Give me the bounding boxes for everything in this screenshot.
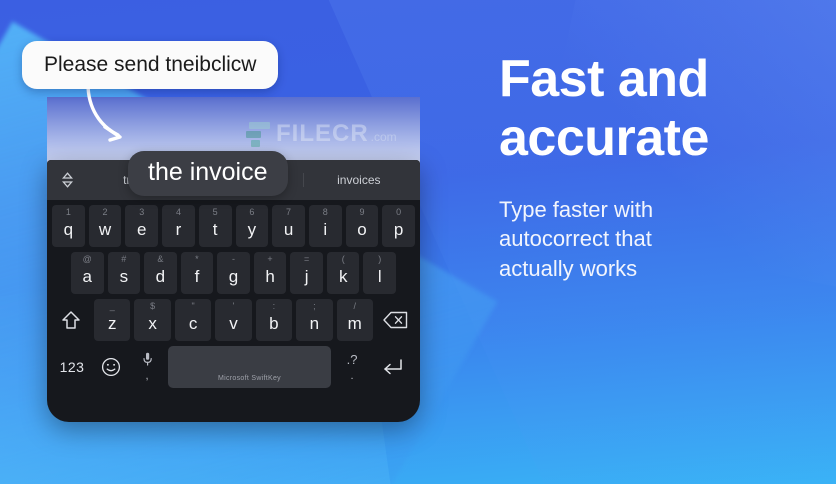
key-primary-label: a [83, 268, 92, 285]
suggestion-item-3[interactable]: invoices [303, 173, 414, 187]
key-secondary-label: @ [71, 254, 104, 264]
key-secondary-label: * [181, 254, 214, 264]
emoji-smiley-icon[interactable] [92, 347, 130, 387]
key-secondary-label: 9 [346, 207, 379, 217]
key-secondary-label: 1 [52, 207, 85, 217]
key-f[interactable]: *f [181, 252, 214, 294]
key-primary-label: i [323, 221, 327, 238]
shift-arrow-icon[interactable] [52, 299, 90, 341]
enter-return-icon[interactable] [369, 347, 415, 387]
spacebar-key[interactable]: Microsoft SwiftKey [168, 346, 331, 388]
subcopy-line-2: autocorrect that [499, 226, 652, 251]
key-secondary-label: ) [363, 254, 396, 264]
microphone-icon [143, 352, 152, 368]
key-primary-label: c [189, 315, 198, 332]
keyboard-row-bottom: 123 [50, 346, 417, 388]
key-p[interactable]: 0p [382, 205, 415, 247]
key-secondary-label: - [217, 254, 250, 264]
key-primary-label: y [248, 221, 257, 238]
key-secondary-label: = [290, 254, 323, 264]
key-primary-label: l [378, 268, 382, 285]
key-secondary-label: 3 [125, 207, 158, 217]
key-s[interactable]: #s [108, 252, 141, 294]
key-primary-label: h [265, 268, 274, 285]
spacebar-label: Microsoft SwiftKey [218, 375, 281, 382]
key-secondary-label: 0 [382, 207, 415, 217]
key-e[interactable]: 3e [125, 205, 158, 247]
key-d[interactable]: &d [144, 252, 177, 294]
key-primary-label: s [120, 268, 129, 285]
key-secondary-label: 8 [309, 207, 342, 217]
key-y[interactable]: 6y [236, 205, 269, 247]
subcopy-line-1: Type faster with [499, 197, 653, 222]
headline-line-2: accurate [499, 109, 709, 167]
key-primary-label: d [156, 268, 165, 285]
key-area: 1q 2w 3e 4r 5t 6y 7u 8i 9o 0p @a #s &d *… [47, 200, 420, 392]
key-primary-label: f [195, 268, 200, 285]
key-i[interactable]: 8i [309, 205, 342, 247]
chevron-up-down-icon[interactable] [53, 172, 81, 188]
key-primary-label: u [284, 221, 293, 238]
key-l[interactable]: )l [363, 252, 396, 294]
key-t[interactable]: 5t [199, 205, 232, 247]
microphone-key[interactable]: , [130, 347, 164, 387]
autocorrect-word-tooltip: the invoice [128, 151, 288, 196]
key-primary-label: p [394, 221, 403, 238]
key-primary-label: e [137, 221, 146, 238]
key-primary-label: o [357, 221, 366, 238]
key-secondary-label: 7 [272, 207, 305, 217]
key-r[interactable]: 4r [162, 205, 195, 247]
key-primary-label: v [229, 315, 238, 332]
key-a[interactable]: @a [71, 252, 104, 294]
key-primary-label: w [99, 221, 111, 238]
promo-subtitle: Type faster with autocorrect that actual… [499, 195, 819, 284]
promo-copy: Fast and accurate Type faster with autoc… [499, 50, 819, 284]
key-primary-label: g [229, 268, 238, 285]
key-secondary-label: " [175, 301, 211, 311]
key-q[interactable]: 1q [52, 205, 85, 247]
numbers-key[interactable]: 123 [52, 347, 92, 387]
key-secondary-label: 5 [199, 207, 232, 217]
keyboard-row-1: 1q 2w 3e 4r 5t 6y 7u 8i 9o 0p [50, 205, 417, 247]
keyboard-row-3: _z $x "c 'v :b ;n /m [50, 299, 417, 341]
key-primary-label: m [348, 315, 362, 332]
key-secondary-label: & [144, 254, 177, 264]
key-primary-label: z [108, 315, 117, 332]
typed-text-callout: Please send tneibclicw [22, 41, 278, 89]
key-g[interactable]: -g [217, 252, 250, 294]
key-secondary-label: 6 [236, 207, 269, 217]
key-secondary-label: $ [134, 301, 170, 311]
key-primary-label: x [148, 315, 157, 332]
key-h[interactable]: +h [254, 252, 287, 294]
key-primary-label: q [64, 221, 73, 238]
key-primary-label: r [176, 221, 182, 238]
key-secondary-label: ( [327, 254, 360, 264]
key-secondary-label: ' [215, 301, 251, 311]
key-secondary-label: + [254, 254, 287, 264]
key-primary-label: j [305, 268, 309, 285]
key-w[interactable]: 2w [89, 205, 122, 247]
key-primary-label: k [339, 268, 348, 285]
key-secondary-label: _ [94, 301, 130, 311]
key-secondary-label: : [256, 301, 292, 311]
swiftkey-keyboard: tneib the invoice invoices 1q 2w 3e 4r 5… [47, 160, 420, 422]
key-u[interactable]: 7u [272, 205, 305, 247]
key-v[interactable]: 'v [215, 299, 251, 341]
key-primary-label: t [213, 221, 218, 238]
key-primary-label: b [269, 315, 278, 332]
key-secondary-label: / [337, 301, 373, 311]
key-c[interactable]: "c [175, 299, 211, 341]
comma-key-label: , [145, 371, 148, 382]
backspace-delete-icon[interactable] [377, 299, 415, 341]
key-k[interactable]: (k [327, 252, 360, 294]
page-title: Fast and accurate [499, 50, 819, 169]
key-b[interactable]: :b [256, 299, 292, 341]
key-x[interactable]: $x [134, 299, 170, 341]
key-secondary-label: 4 [162, 207, 195, 217]
key-secondary-label: # [108, 254, 141, 264]
punctuation-key[interactable]: .? . [335, 347, 369, 387]
punctuation-label: .? [347, 353, 358, 366]
key-secondary-label: ; [296, 301, 332, 311]
keyboard-row-2: @a #s &d *f -g +h =j (k )l [50, 252, 417, 294]
key-primary-label: n [310, 315, 319, 332]
key-j[interactable]: =j [290, 252, 323, 294]
key-secondary-label: 2 [89, 207, 122, 217]
period-label: . [350, 371, 353, 382]
headline-line-1: Fast and [499, 50, 709, 108]
key-n[interactable]: ;n [296, 299, 332, 341]
key-z[interactable]: _z [94, 299, 130, 341]
promo-banner: FILECR .com tneib the invoice invoices 1… [0, 0, 836, 484]
subcopy-line-3: actually works [499, 256, 637, 281]
key-m[interactable]: /m [337, 299, 373, 341]
key-o[interactable]: 9o [346, 205, 379, 247]
